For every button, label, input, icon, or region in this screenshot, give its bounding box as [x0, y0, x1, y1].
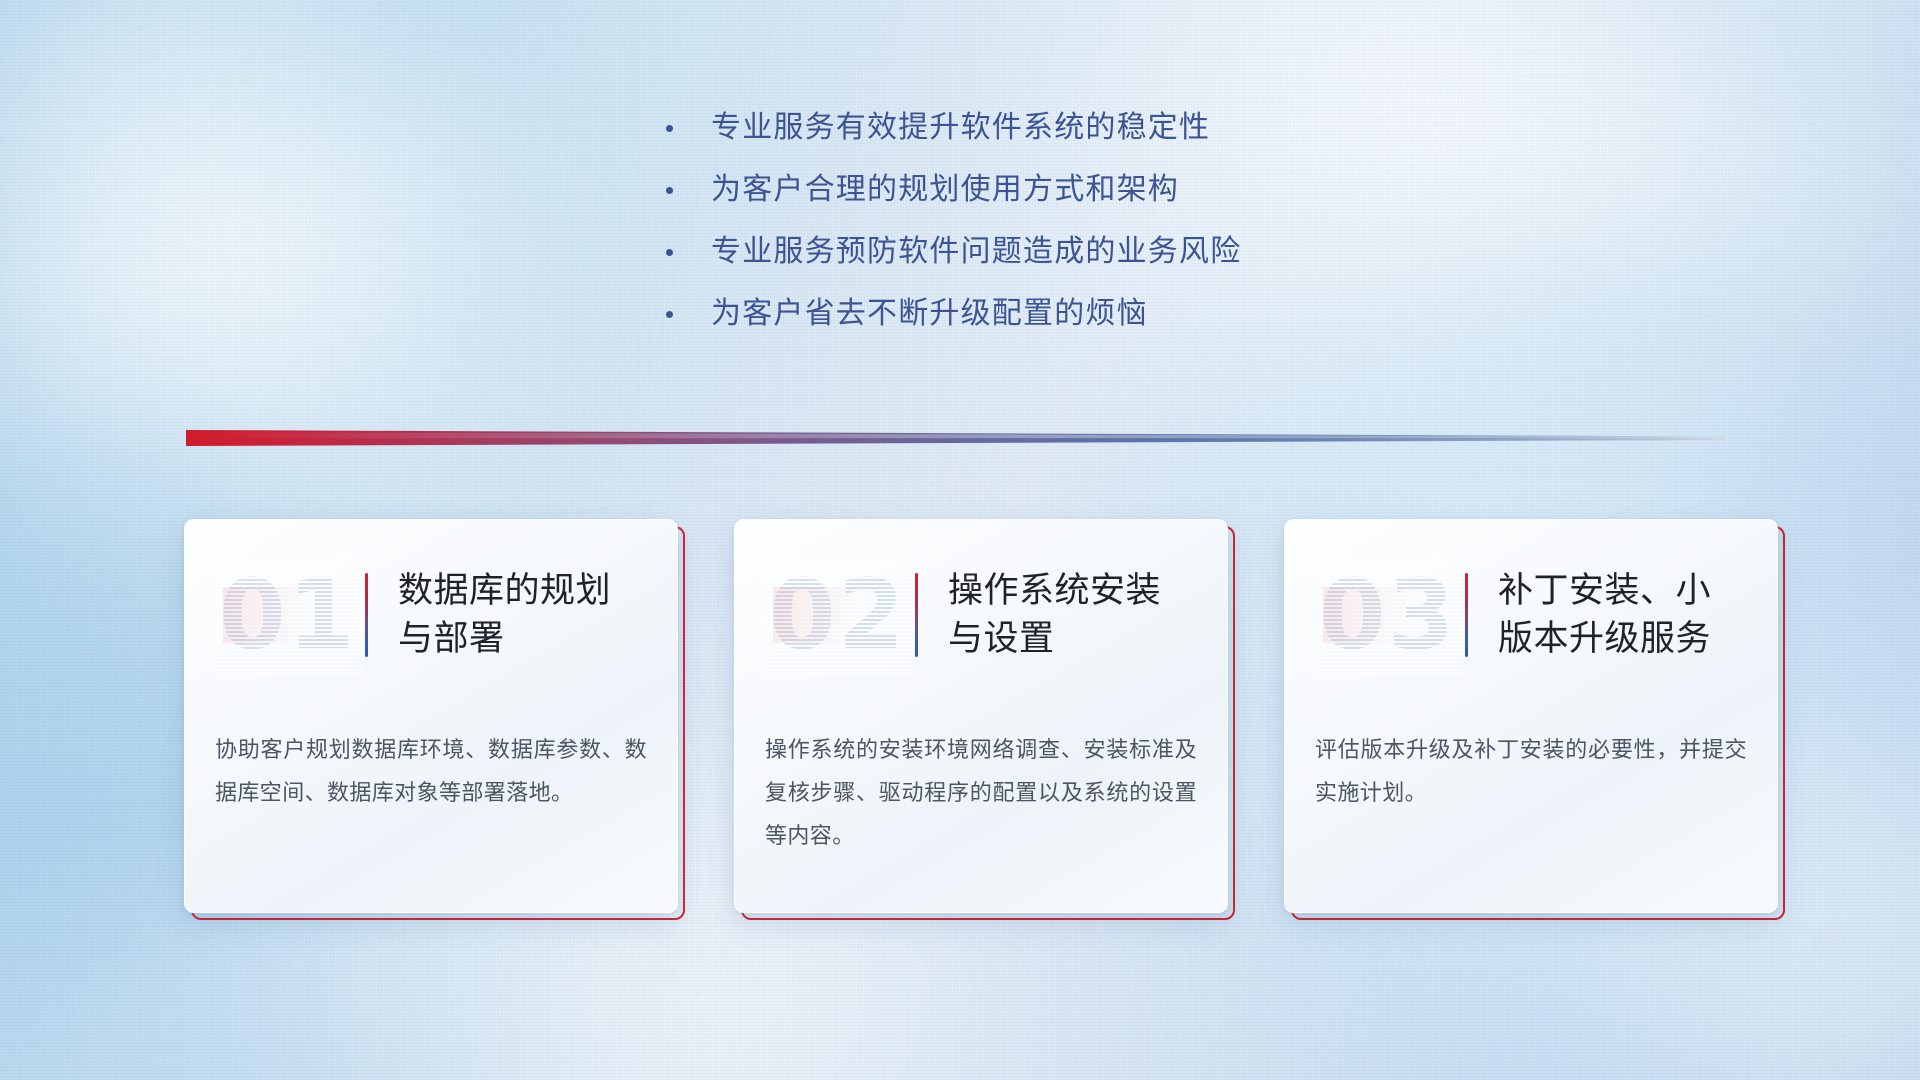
- card-surface[interactable]: 01 数据库的规划 与部署 协助客户规划数据库环境、数据库参数、数据库空间、数据…: [184, 519, 678, 913]
- bullet-dot-icon: [666, 249, 673, 256]
- card-divider-bar: [365, 573, 368, 657]
- card-header: 02 操作系统安装 与设置: [765, 554, 1197, 676]
- bullet-text: 专业服务有效提升软件系统的稳定性: [711, 108, 1210, 148]
- card-header: 03 补丁安装、小 版本升级服务: [1315, 554, 1747, 676]
- list-item: 专业服务有效提升软件系统的稳定性: [666, 108, 1241, 148]
- list-item: 专业服务预防软件问题造成的业务风险: [666, 232, 1241, 272]
- card-divider-bar: [1465, 573, 1468, 657]
- bullet-dot-icon: [666, 187, 673, 194]
- card-description: 评估版本升级及补丁安装的必要性，并提交实施计划。: [1315, 728, 1747, 814]
- bullet-text: 为客户合理的规划使用方式和架构: [711, 170, 1179, 210]
- benefits-bullet-list: 专业服务有效提升软件系统的稳定性 为客户合理的规划使用方式和架构 专业服务预防软…: [666, 108, 1241, 356]
- service-card-02[interactable]: 02 操作系统安装 与设置 操作系统的安装环境网络调查、安装标准及复核步骤、驱动…: [734, 519, 1228, 913]
- card-surface[interactable]: 03 补丁安装、小 版本升级服务 评估版本升级及补丁安装的必要性，并提交实施计划…: [1284, 519, 1778, 913]
- card-title: 补丁安装、小 版本升级服务: [1498, 567, 1711, 663]
- card-divider-bar: [915, 573, 918, 657]
- service-card-01[interactable]: 01 数据库的规划 与部署 协助客户规划数据库环境、数据库参数、数据库空间、数据…: [184, 519, 678, 913]
- card-title: 数据库的规划 与部署: [398, 567, 611, 663]
- card-number: 03: [1319, 561, 1459, 669]
- card-number: 01: [219, 561, 359, 669]
- list-item: 为客户省去不断升级配置的烦恼: [666, 294, 1241, 334]
- card-header: 01 数据库的规划 与部署: [215, 554, 647, 676]
- card-description: 协助客户规划数据库环境、数据库参数、数据库空间、数据库对象等部署落地。: [215, 728, 647, 814]
- list-item: 为客户合理的规划使用方式和架构: [666, 170, 1241, 210]
- bullet-dot-icon: [666, 311, 673, 318]
- card-surface[interactable]: 02 操作系统安装 与设置 操作系统的安装环境网络调查、安装标准及复核步骤、驱动…: [734, 519, 1228, 913]
- service-cards-container: 01 数据库的规划 与部署 协助客户规划数据库环境、数据库参数、数据库空间、数据…: [184, 519, 1778, 913]
- card-description: 操作系统的安装环境网络调查、安装标准及复核步骤、驱动程序的配置以及系统的设置等内…: [765, 728, 1197, 857]
- bullet-text: 为客户省去不断升级配置的烦恼: [711, 294, 1148, 334]
- card-number: 02: [769, 561, 909, 669]
- card-title: 操作系统安装 与设置: [948, 567, 1161, 663]
- bullet-dot-icon: [666, 125, 673, 132]
- section-divider: [186, 430, 1726, 446]
- bullet-text: 专业服务预防软件问题造成的业务风险: [711, 232, 1241, 272]
- service-card-03[interactable]: 03 补丁安装、小 版本升级服务 评估版本升级及补丁安装的必要性，并提交实施计划…: [1284, 519, 1778, 913]
